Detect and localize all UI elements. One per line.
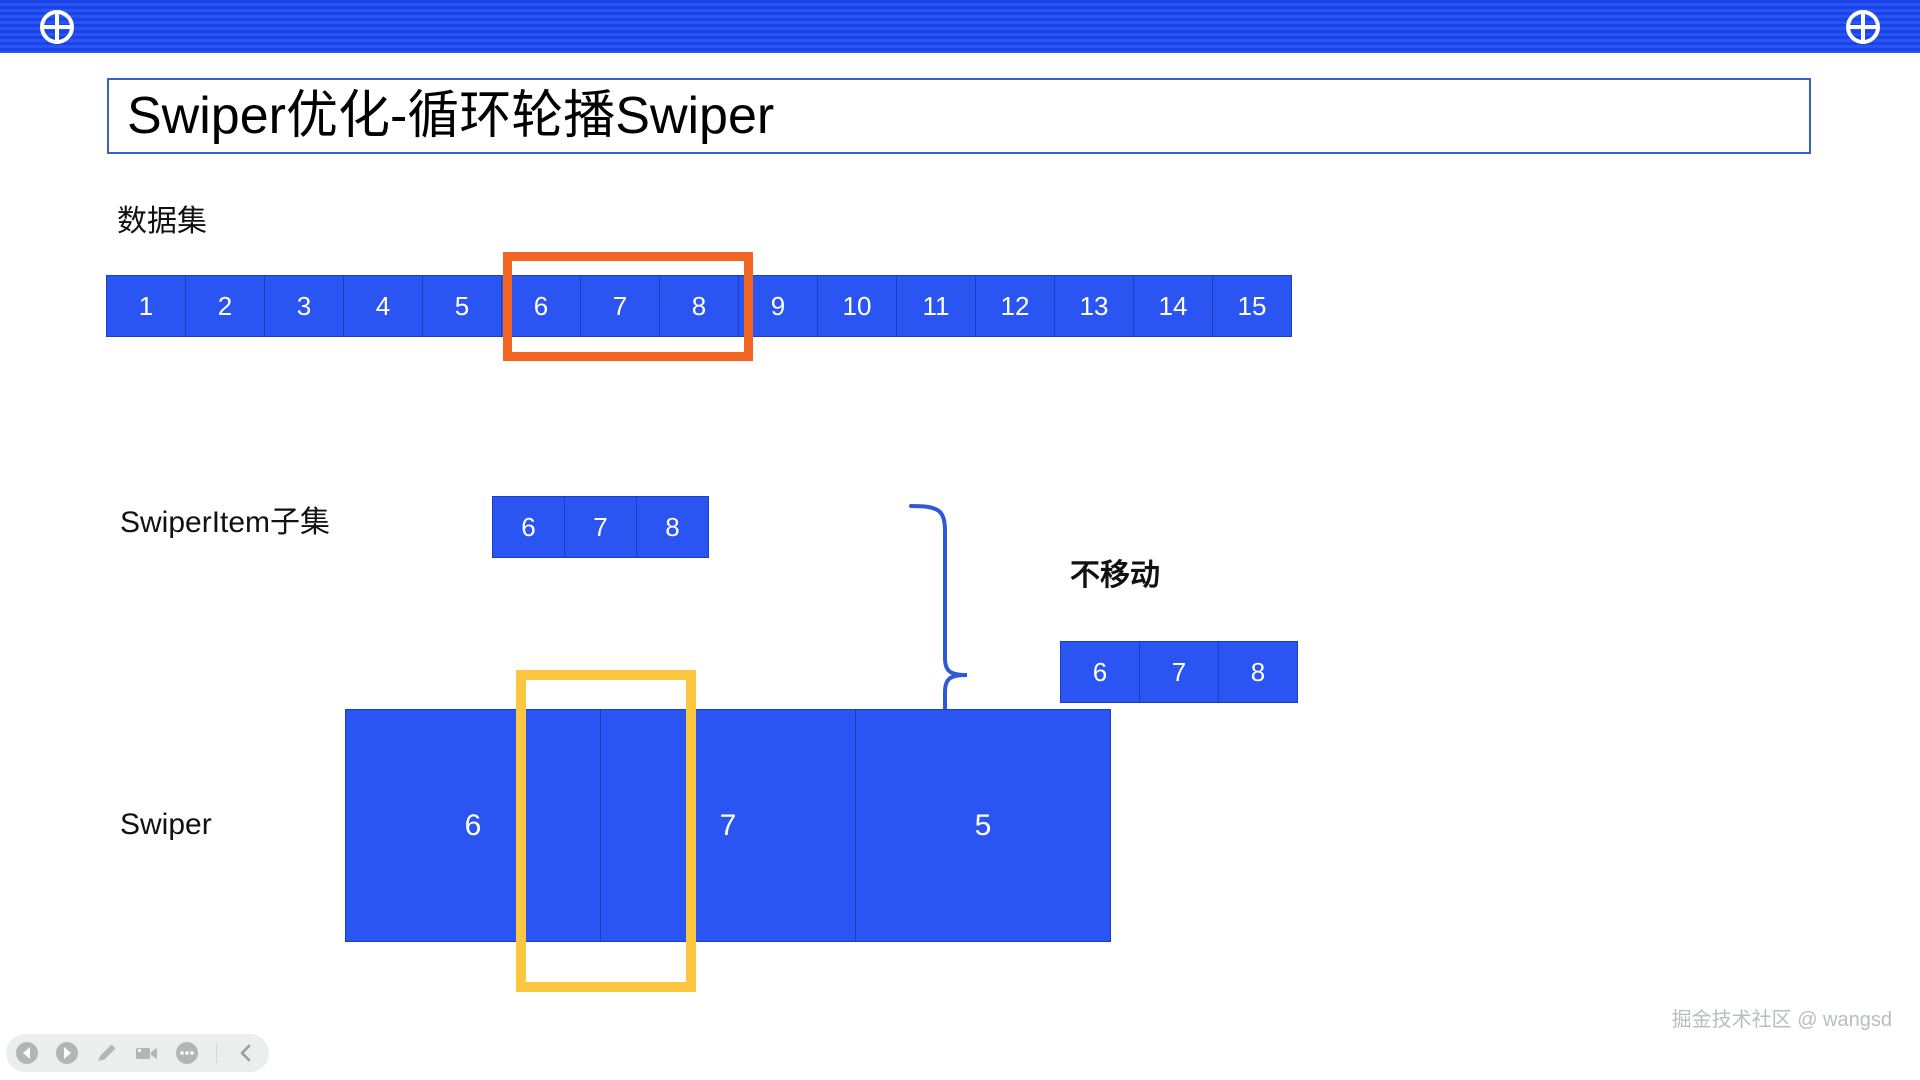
no-move-label: 不移动 xyxy=(1070,550,1160,594)
subset-cell: 8 xyxy=(636,496,709,558)
no-move-strip: 678 xyxy=(1060,641,1298,703)
dataset-cell: 14 xyxy=(1133,275,1213,337)
presentation-toolbar xyxy=(6,1034,269,1072)
no-move-cell: 7 xyxy=(1139,641,1219,703)
swiper-panel: 5 xyxy=(855,709,1111,942)
page-title: Swiper优化-循环轮播Swiper xyxy=(127,90,774,142)
toolbar-divider xyxy=(216,1043,217,1063)
annotate-button[interactable] xyxy=(94,1040,120,1066)
swiperitem-subset-strip: 678 xyxy=(492,496,709,558)
collapse-toolbar-button[interactable] xyxy=(233,1040,259,1066)
chevron-left-icon xyxy=(236,1043,256,1063)
watermark: 掘金技术社区 @ wangsd xyxy=(1672,1003,1892,1032)
dataset-cell: 4 xyxy=(343,275,423,337)
previous-slide-button[interactable] xyxy=(14,1040,40,1066)
play-right-icon xyxy=(55,1041,79,1065)
ellipsis-icon xyxy=(175,1041,199,1065)
dataset-highlight-box xyxy=(503,252,753,361)
video-camera-icon xyxy=(134,1041,160,1065)
swiperitem-subset-label: SwiperItem子集 xyxy=(120,497,330,541)
crosshair-circle-icon xyxy=(37,7,77,47)
play-left-icon xyxy=(15,1041,39,1065)
swiper-label: Swiper xyxy=(120,808,212,842)
record-button[interactable] xyxy=(134,1040,160,1066)
pencil-icon xyxy=(95,1041,119,1065)
dataset-cell: 13 xyxy=(1054,275,1134,337)
subset-cell: 6 xyxy=(492,496,565,558)
slide-title-box: Swiper优化-循环轮播Swiper xyxy=(107,78,1811,154)
no-move-cell: 6 xyxy=(1060,641,1140,703)
dataset-cell: 10 xyxy=(817,275,897,337)
dataset-cell: 12 xyxy=(975,275,1055,337)
dataset-cell: 15 xyxy=(1212,275,1292,337)
next-slide-button[interactable] xyxy=(54,1040,80,1066)
dataset-cell: 3 xyxy=(264,275,344,337)
no-move-cell: 8 xyxy=(1218,641,1298,703)
crosshair-circle-icon xyxy=(1843,7,1883,47)
dataset-cell: 2 xyxy=(185,275,265,337)
more-options-button[interactable] xyxy=(174,1040,200,1066)
swiper-panels: 675 xyxy=(345,709,1111,942)
subset-cell: 7 xyxy=(564,496,637,558)
top-banner xyxy=(0,0,1920,53)
slide-canvas: Swiper优化-循环轮播Swiper 数据集 1234567891011121… xyxy=(0,0,1920,1080)
swiper-viewport-highlight xyxy=(516,670,696,992)
dataset-cell: 5 xyxy=(422,275,502,337)
dataset-label: 数据集 xyxy=(117,196,207,240)
dataset-cell: 11 xyxy=(896,275,976,337)
dataset-cell: 1 xyxy=(106,275,186,337)
